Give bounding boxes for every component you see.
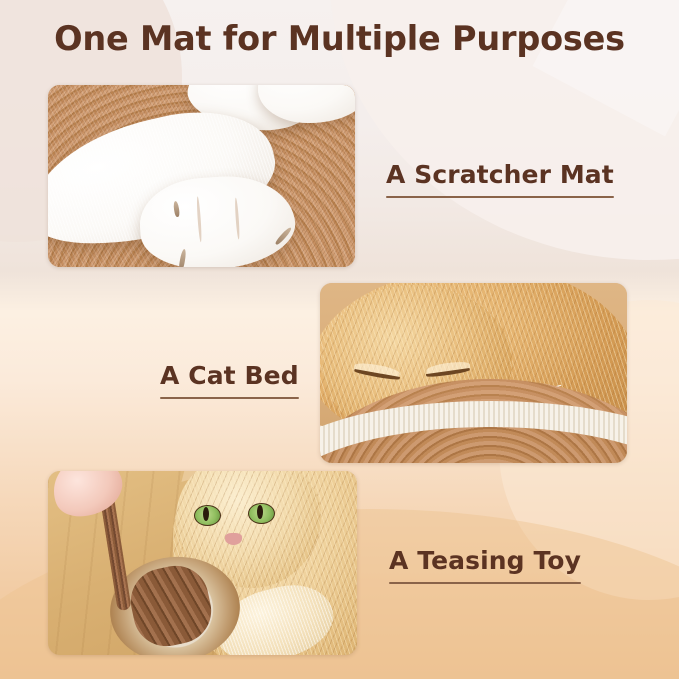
caption-teasing-toy: A Teasing Toy <box>389 546 581 584</box>
poster-title: One Mat for Multiple Purposes <box>0 19 679 58</box>
toe-separation <box>196 196 202 242</box>
toe-separation <box>234 198 240 240</box>
caption-bed-text: A Cat Bed <box>160 361 299 390</box>
caption-scratcher-text: A Scratcher Mat <box>386 160 614 189</box>
cat-bed-photo-scene <box>320 283 627 463</box>
cat-pupil-left <box>203 507 209 521</box>
caption-cat-bed: A Cat Bed <box>160 361 299 399</box>
teasing-toy-photo-scene <box>48 471 357 655</box>
photo-scratcher-mat <box>48 85 355 267</box>
caption-underline <box>386 196 614 198</box>
cat-pupil-right <box>257 505 263 519</box>
photo-teasing-toy <box>48 471 357 655</box>
product-feature-poster: One Mat for Multiple Purposes <box>0 0 679 679</box>
caption-scratcher-mat: A Scratcher Mat <box>386 160 614 198</box>
caption-underline <box>389 582 581 584</box>
caption-toy-text: A Teasing Toy <box>389 546 581 575</box>
caption-underline <box>160 397 299 399</box>
photo-cat-bed <box>320 283 627 463</box>
cat-nose <box>225 533 242 545</box>
scratcher-photo-scene <box>48 85 355 267</box>
